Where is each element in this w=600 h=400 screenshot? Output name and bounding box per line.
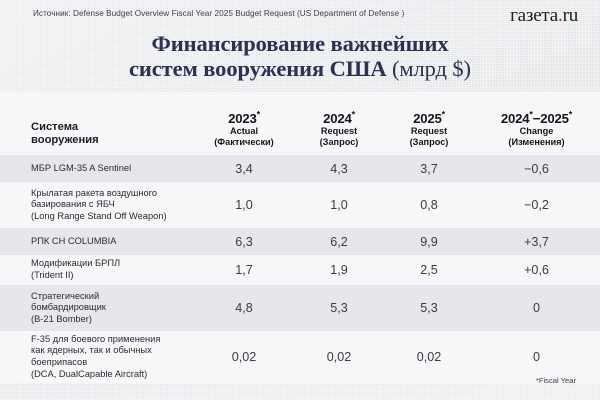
cell-y2023: 0,02: [195, 350, 293, 364]
title-unit: (млрд $): [392, 56, 471, 81]
cell-y2025: 5,3: [385, 301, 473, 315]
cell-y2025: 2,5: [385, 263, 473, 277]
column-header-system-line1: Система: [31, 121, 189, 134]
title-line-2-main: систем вооружения США: [129, 56, 386, 81]
source-label: Источник: Defense Budget Overview Fiscal…: [33, 9, 404, 18]
table-row: МБР LGM-35 A Sentinel3,44,33,7−0,6: [0, 155, 600, 182]
cell-change: 0: [473, 350, 600, 364]
cell-change: +0,6: [473, 263, 600, 277]
cell-system-name: F-35 для боевого применениякак ядерных, …: [0, 334, 195, 380]
column-header-change-sub-ru: (Изменения): [473, 137, 600, 148]
system-name-line: (DCA, DualCapable Aircraft): [31, 369, 189, 381]
top-bar: Источник: Defense Budget Overview Fiscal…: [0, 0, 600, 29]
system-name-line: Крылатая ракета воздушного: [31, 188, 189, 200]
system-name-line: РПК СН COLUMBIA: [31, 236, 189, 248]
cell-y2024: 0,02: [293, 350, 385, 364]
cell-system-name: Стратегическийбомбардировщик(B-21 Bomber…: [0, 291, 195, 326]
column-header-2025-sub-ru: (Запрос): [385, 137, 473, 148]
system-name-line: бомбардировщик: [31, 302, 189, 314]
column-header-change-year1: 2024: [501, 111, 530, 126]
cell-y2025: 0,8: [385, 198, 473, 212]
cell-y2023: 1,0: [195, 198, 293, 212]
column-header-2024-year: 2024: [323, 111, 352, 126]
gazeta-logo[interactable]: газета.ru: [510, 5, 578, 27]
column-header-change-year2: 2025: [540, 111, 569, 126]
column-header-2024-sub-ru: (Запрос): [293, 137, 385, 148]
system-name-line: МБР LGM-35 A Sentinel: [31, 163, 189, 175]
cell-y2024: 1,9: [293, 263, 385, 277]
cell-y2024: 6,2: [293, 235, 385, 249]
column-header-2025-year: 2025: [413, 111, 442, 126]
system-name-line: F-35 для боевого применения: [31, 334, 189, 346]
table-row: Крылатая ракета воздушногобазирования с …: [0, 182, 600, 228]
cell-system-name: Модификации БРПЛ(Trident II): [0, 258, 195, 281]
cell-y2025: 3,7: [385, 162, 473, 176]
cell-change: 0: [473, 301, 600, 315]
cell-y2025: 9,9: [385, 235, 473, 249]
page-title: Финансирование важнейших систем вооружен…: [0, 31, 600, 81]
cell-y2025: 0,02: [385, 350, 473, 364]
cell-y2023: 6,3: [195, 235, 293, 249]
column-header-system-line2: вооружения: [31, 134, 189, 147]
column-header-2025: 2025* Request (Запрос): [385, 111, 473, 155]
table-row: F-35 для боевого применениякак ядерных, …: [0, 331, 600, 383]
column-header-2023-star: *: [257, 110, 260, 120]
system-name-line: Стратегический: [31, 291, 189, 303]
infographic-canvas: Источник: Defense Budget Overview Fiscal…: [0, 0, 600, 400]
table-row: РПК СН COLUMBIA6,36,29,9+3,7: [0, 228, 600, 255]
logo-tld: ru: [563, 5, 578, 26]
column-header-2024-star: *: [352, 110, 355, 120]
system-name-line: как ядерных, так и обычных: [31, 345, 189, 357]
cell-system-name: МБР LGM-35 A Sentinel: [0, 163, 195, 175]
weapons-funding-table: Система вооружения 2023* Actual (Фактиче…: [0, 92, 600, 383]
system-name-line: (Trident II): [31, 270, 189, 282]
column-header-change-star2: *: [569, 110, 572, 120]
column-header-2024-sub-en: Request: [293, 126, 385, 137]
table-header-row: Система вооружения 2023* Actual (Фактиче…: [0, 92, 600, 155]
column-header-2023: 2023* Actual (Фактически): [195, 111, 293, 155]
column-header-system: Система вооружения: [0, 121, 195, 155]
column-header-2023-sub-en: Actual: [195, 126, 293, 137]
title-line-1: Финансирование важнейших: [0, 31, 600, 56]
column-header-2025-sub-en: Request: [385, 126, 473, 137]
table-row: Стратегическийбомбардировщик(B-21 Bomber…: [0, 285, 600, 331]
column-header-change: 2024*−2025* Change (Изменения): [473, 111, 600, 155]
cell-y2024: 4,3: [293, 162, 385, 176]
column-header-change-sub-en: Change: [473, 126, 600, 137]
system-name-line: Модификации БРПЛ: [31, 258, 189, 270]
cell-system-name: РПК СН COLUMBIA: [0, 236, 195, 248]
cell-y2024: 1,0: [293, 198, 385, 212]
system-name-line: базирования с ЯБЧ: [31, 199, 189, 211]
system-name-line: (Long Range Stand Off Weapon): [31, 211, 189, 223]
title-line-2: систем вооружения США (млрд $): [0, 56, 600, 81]
cell-change: −0,2: [473, 198, 600, 212]
cell-y2023: 4,8: [195, 301, 293, 315]
column-header-2025-star: *: [442, 110, 445, 120]
column-header-2023-year: 2023: [228, 111, 257, 126]
system-name-line: (B-21 Bomber): [31, 314, 189, 326]
system-name-line: боеприпасов: [31, 357, 189, 369]
cell-change: +3,7: [473, 235, 600, 249]
fiscal-year-footnote: *Fiscal Year: [536, 376, 576, 385]
cell-y2023: 3,4: [195, 162, 293, 176]
cell-system-name: Крылатая ракета воздушногобазирования с …: [0, 188, 195, 223]
logo-word: газета: [510, 5, 558, 26]
cell-y2023: 1,7: [195, 263, 293, 277]
cell-y2024: 5,3: [293, 301, 385, 315]
column-header-2023-sub-ru: (Фактически): [195, 137, 293, 148]
column-header-2024: 2024* Request (Запрос): [293, 111, 385, 155]
cell-change: −0,6: [473, 162, 600, 176]
table-body: МБР LGM-35 A Sentinel3,44,33,7−0,6Крылат…: [0, 155, 600, 383]
table-row: Модификации БРПЛ(Trident II)1,71,92,5+0,…: [0, 255, 600, 285]
